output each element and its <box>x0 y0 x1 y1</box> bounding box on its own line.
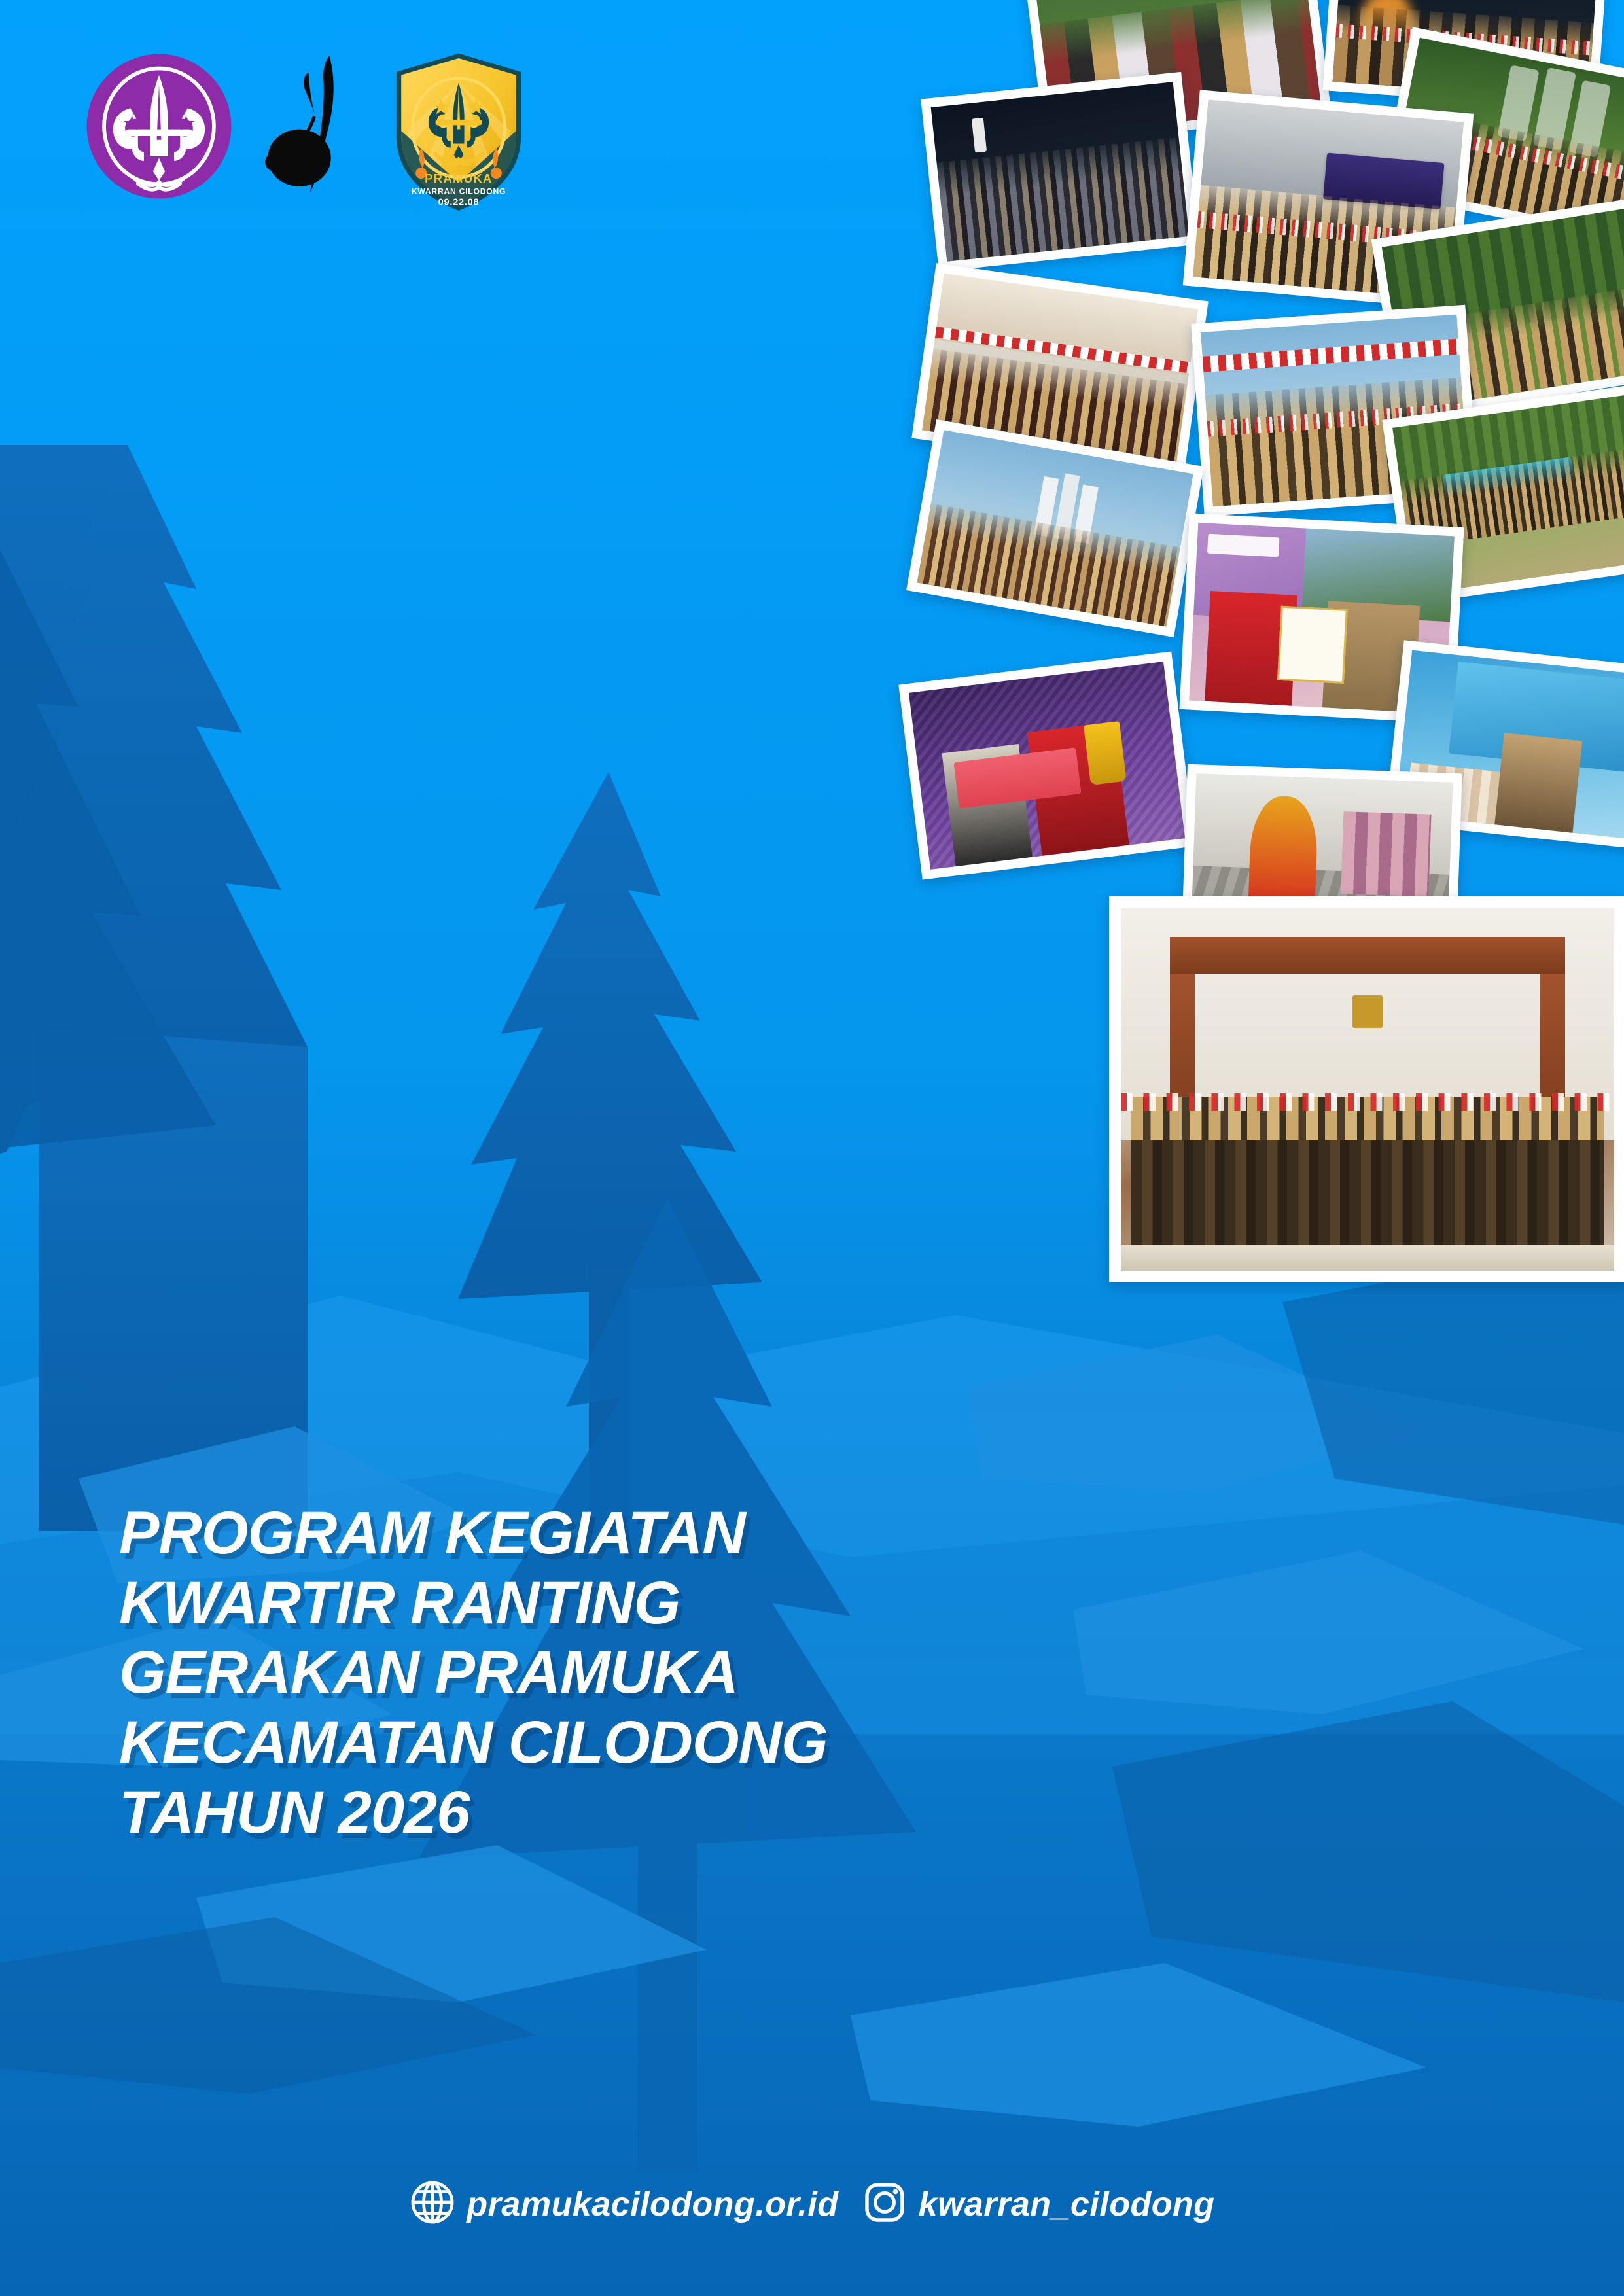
instagram-icon <box>861 2179 908 2229</box>
title-line-2: KWARTIR RANTING <box>119 1568 1297 1638</box>
title-line-5: TAHUN 2026 <box>119 1778 1297 1848</box>
badge-line-1: PRAMUKA <box>425 171 493 185</box>
page-title: PROGRAM KEGIATAN KWARTIR RANTING GERAKAN… <box>119 1498 1297 1848</box>
instagram-contact[interactable]: kwarran_cilodong <box>861 2179 1215 2229</box>
logo-row: PRAMUKA KWARRAN CILODONG 09.22.08 <box>84 51 527 218</box>
photo-collage <box>739 0 1624 1413</box>
badge-line-2: KWARRAN CILODONG <box>412 186 506 196</box>
title-line-3: GERAKAN PRAMUKA <box>119 1638 1297 1708</box>
collage-photo-main <box>1109 896 1624 1282</box>
collage-photo <box>898 652 1195 880</box>
world-scout-emblem <box>84 51 234 205</box>
title-line-1: PROGRAM KEGIATAN <box>119 1498 1297 1568</box>
poster-root: PRAMUKA KWARRAN CILODONG 09.22.08 <box>0 0 1624 2296</box>
kwarran-cilodong-badge: PRAMUKA KWARRAN CILODONG 09.22.08 <box>390 51 527 218</box>
globe-icon <box>409 2179 456 2229</box>
footer-contact-bar: pramukacilodong.or.id kwarran_cilodong <box>0 2179 1624 2229</box>
website-contact[interactable]: pramukacilodong.or.id <box>409 2179 838 2229</box>
instagram-label: kwarran_cilodong <box>919 2185 1215 2224</box>
title-line-4: KECAMATAN CILODONG <box>119 1708 1297 1778</box>
collage-photo <box>921 72 1199 272</box>
website-label: pramukacilodong.or.id <box>467 2185 838 2224</box>
badge-line-3: 09.22.08 <box>438 197 480 207</box>
tunas-kelapa-emblem <box>263 51 361 205</box>
